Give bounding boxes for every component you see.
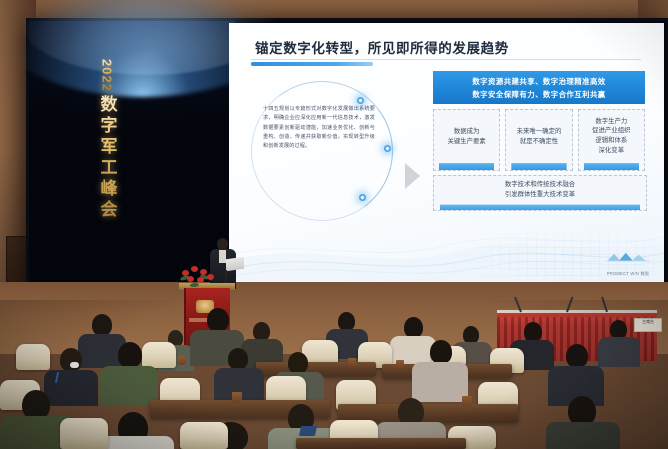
attendee-head [524,322,542,342]
circle-node-dot [384,145,391,152]
slide-box: 数字生产力 促进产业组织 逻辑和体系 深化变革 [578,109,645,171]
event-vertical-banner: 2022 数字军工峰会 [87,59,127,239]
attendee-head [118,342,142,368]
logo-mark-icon [602,251,657,262]
event-year: 2022 [100,59,115,92]
attendee-torso [412,362,468,402]
presentation-slide: 锚定数字化转型，所见即所得的发展趋势 十四五规划以专篇形式对数字化发展做出系统要… [229,23,664,285]
banner-line-1: 数字资源共建共享、数字治理精准高效 [472,76,605,87]
chair [60,418,108,449]
conference-photo: 2022 数字军工峰会 锚定数字化转型，所见即所得的发展趋势 [0,0,668,449]
slide-box-row: 数据成为 关键生产要素 未来唯一确定的 就是不确定性 数字生产力 促进产业组织 … [433,109,645,171]
cup [462,396,472,407]
slide-box: 数据成为 关键生产要素 [433,109,500,171]
screen-backdrop-dark: 2022 数字军工峰会 [29,21,235,283]
cup [396,360,404,369]
slide-bottom-box-text: 数字技术和传统技术融合 引发群体性重大技术变革 [505,180,575,199]
circle-node-dot [357,97,364,104]
flow-arrow-icon [405,163,420,189]
slide-box-text: 数字生产力 促进产业组织 逻辑和体系 深化变革 [589,117,633,155]
attendee-head [404,317,423,338]
desk [296,438,466,449]
logo-text: PROMECT W/N 数智 [607,271,650,276]
attendee-head [207,308,229,332]
tablet-device [299,426,317,436]
slide-box: 未来唯一确定的 就是不确定性 [505,109,572,171]
face-mask [70,362,79,368]
attendee-torso [598,337,640,367]
podium-laptop [226,257,244,272]
cup [348,358,356,367]
title-accent-bar [251,62,373,66]
event-name: 数字军工峰会 [95,95,120,221]
speaker-shirt [219,250,226,263]
slide-title: 锚定数字化转型，所见即所得的发展趋势 [255,37,509,57]
podium-flowers [178,262,220,290]
attendee-head [288,352,308,374]
chair [16,344,50,370]
stage-led-screen: 2022 数字军工峰会 锚定数字化转型，所见即所得的发展趋势 [26,18,668,292]
circle-paragraph: 十四五规划以专篇形式对数字化发展做出系统要求，明确企业应深化应用新一代信息技术，… [263,105,375,151]
banner-line-2: 数字安全保障有力、数字合作互利共赢 [472,89,605,100]
audience-area [0,300,668,449]
chair [180,422,228,449]
cup [232,392,242,403]
attendee-head [92,314,112,336]
slide-box-text: 未来唯一确定的 就是不确定性 [514,127,565,146]
title-divider [251,59,641,60]
slide-box-text: 数据成为 关键生产要素 [444,127,488,146]
attendee-torso [44,370,98,406]
slide-circle-diagram: 十四五规划以专篇形式对数字化发展做出系统要求，明确企业应深化应用新一代信息技术，… [247,75,399,225]
attendee-head [430,340,452,364]
circle-node-dot [359,194,366,201]
slide-bottom-box: 数字技术和传统技术融合 引发群体性重大技术变革 [433,175,647,211]
attendee-torso [546,422,620,449]
chair [142,342,176,368]
attendee-head [566,344,588,368]
attendee-head [228,348,248,370]
slide-logo: PROMECT W/N 数智 [602,251,654,273]
speaker-head [217,238,228,250]
cup [178,356,186,365]
attendee-head [60,348,82,372]
slide-blue-banner: 数字资源共建共享、数字治理精准高效 数字安全保障有力、数字合作互利共赢 [433,71,645,104]
